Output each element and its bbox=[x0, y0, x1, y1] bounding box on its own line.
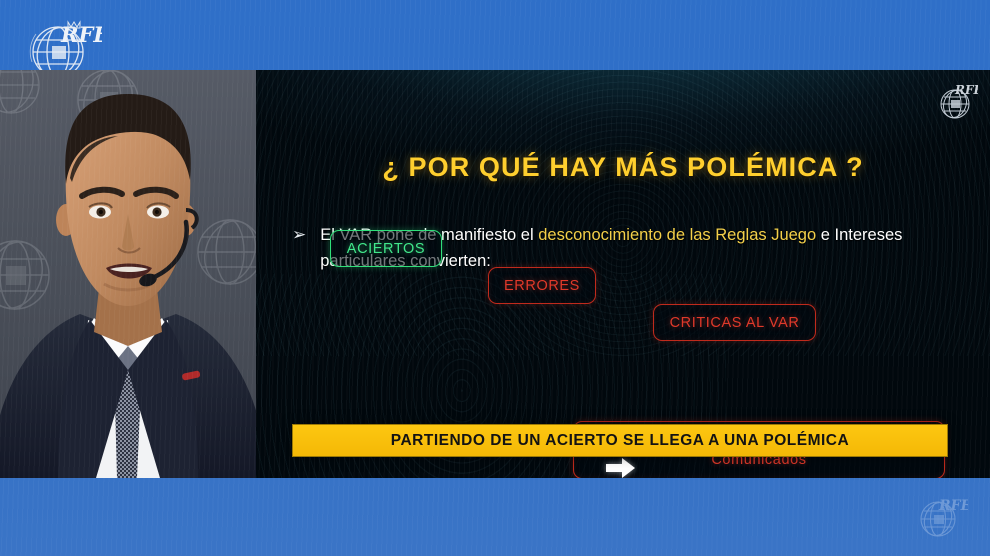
slide-rfef-logo-icon: RFEF bbox=[934, 76, 978, 126]
bullet-chevron-icon: ➢ bbox=[292, 222, 306, 248]
flow-box-criticas-al-var: CRITICAS AL VAR bbox=[653, 304, 816, 341]
svg-text:RFEF: RFEF bbox=[954, 83, 978, 97]
speaker-video-panel bbox=[0, 70, 256, 478]
arrow-right-icon bbox=[606, 457, 636, 478]
flow-box-errores: ERRORES bbox=[488, 267, 596, 304]
presenter-image bbox=[0, 70, 256, 478]
presentation-slide: RFEF ¿ POR QUÉ HAY MÁS POLÉMICA ? ➢ El V… bbox=[256, 70, 990, 478]
bullet-text-highlight: desconocimiento de las Reglas Juego bbox=[538, 226, 816, 244]
broadcast-frame: RFEF RFEF bbox=[0, 0, 990, 556]
svg-text:RFEF: RFEF bbox=[938, 498, 968, 514]
rfef-watermark-icon: RFEF bbox=[912, 488, 968, 544]
flow-box-aciertos: ACIERTOS bbox=[330, 230, 442, 267]
slide-title: ¿ POR QUÉ HAY MÁS POLÉMICA ? bbox=[256, 152, 990, 183]
svg-text:RFEF: RFEF bbox=[60, 22, 102, 47]
highlight-banner: PARTIENDO DE UN ACIERTO SE LLEGA A UNA P… bbox=[292, 424, 948, 457]
